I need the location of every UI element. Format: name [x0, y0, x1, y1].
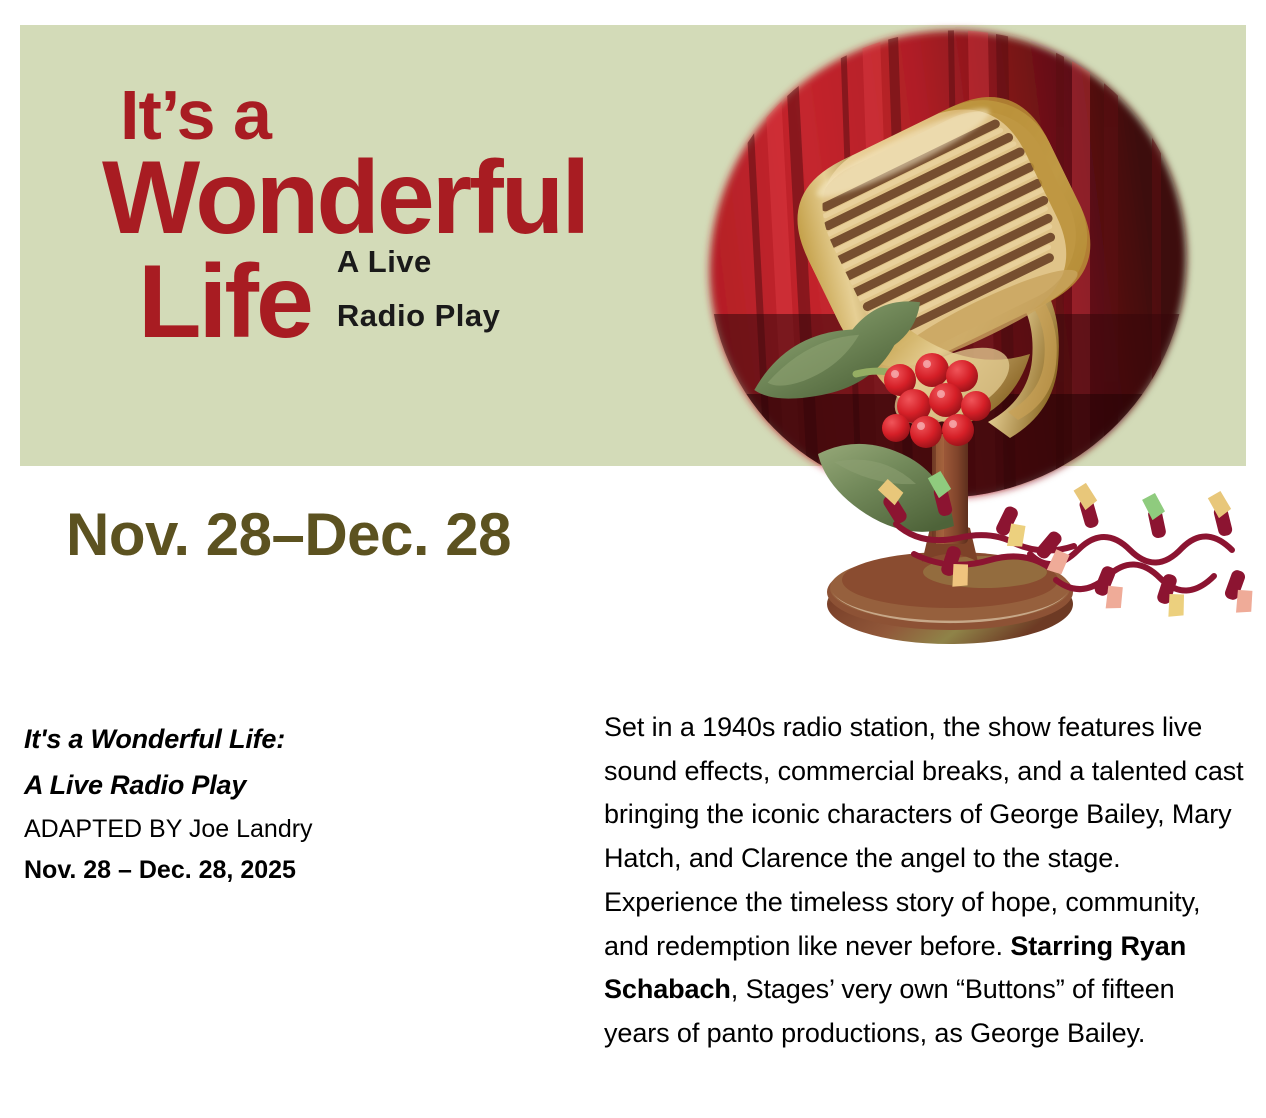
show-title-line2: A Live Radio Play	[24, 762, 544, 808]
poster-title-line3-row: Life A Live Radio Play	[108, 243, 728, 351]
show-description: Set in a 1940s radio station, the show f…	[604, 706, 1244, 1056]
show-details-section: It's a Wonderful Life: A Live Radio Play…	[0, 680, 1266, 1118]
poster-date-range: Nov. 28–Dec. 28	[66, 500, 511, 569]
poster-subtitle-line2: Radio Play	[337, 297, 501, 335]
run-dates: Nov. 28 – Dec. 28, 2025	[24, 854, 544, 887]
show-info-column: It's a Wonderful Life: A Live Radio Play…	[24, 716, 544, 887]
adapted-by-credit: ADAPTED BY Joe Landry	[24, 813, 544, 846]
poster-subtitle: A Live Radio Play	[311, 243, 501, 351]
poster-artwork	[700, 14, 1266, 674]
poster-subtitle-line1: A Live	[337, 243, 501, 281]
poster-title-line3: Life	[138, 255, 311, 351]
poster-banner: It’s a Wonderful Life A Live Radio Play …	[0, 0, 1266, 680]
show-title-line1: It's a Wonderful Life:	[24, 716, 544, 762]
description-part1: Set in a 1940s radio station, the show f…	[604, 712, 1244, 961]
poster-title-line2: Wonderful	[102, 151, 728, 247]
poster-title-line1: It’s a	[120, 82, 728, 149]
poster-title-lockup: It’s a Wonderful Life A Live Radio Play	[108, 82, 728, 350]
show-description-column: Set in a 1940s radio station, the show f…	[604, 706, 1244, 1056]
